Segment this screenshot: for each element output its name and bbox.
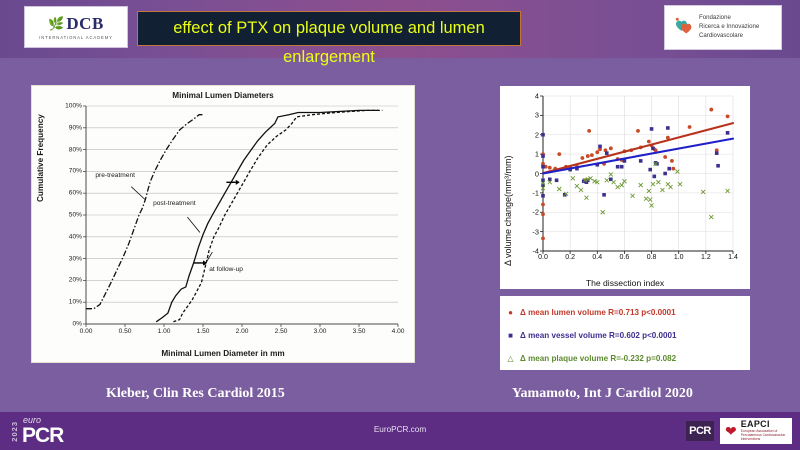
right-chart-ytick: 1	[535, 150, 539, 159]
legend-label: Δ mean vessel volume R=0.602 p<0.0001	[520, 331, 677, 340]
left-chart-annotation: pre-treatment	[95, 172, 135, 179]
left-chart-ytick: 100%	[65, 103, 82, 110]
left-chart-ytick: 40%	[69, 233, 82, 240]
legend-item: △Δ mean plaque volume R=-0.232 p=0.082	[506, 347, 746, 370]
page-title-line2: enlargement	[137, 48, 521, 67]
right-chart-ytick: -1	[532, 188, 539, 197]
left-chart-xtick: 3.00	[314, 328, 327, 335]
right-chart-card: Δ volume change(mm³/mm) The dissection i…	[500, 86, 750, 289]
left-chart-xlabel: Minimal Lumen Diameter in mm	[32, 349, 414, 358]
right-chart-caption: Yamamoto, Int J Cardiol 2020	[512, 386, 693, 402]
left-chart-xtick: 3.50	[353, 328, 366, 335]
eapci-sublabel: European Association of Percutaneous Car…	[741, 430, 792, 441]
left-chart-plot: 0%10%20%30%40%50%60%70%80%90%100%0.000.5…	[86, 106, 398, 324]
right-chart-xtick: 0.2	[565, 254, 575, 261]
left-chart-ytick: 20%	[69, 277, 82, 284]
eapci-logo[interactable]: ❤ EAPCI European Association of Percutan…	[720, 418, 792, 444]
right-chart-ylabel: Δ volume change(mm³/mm)	[503, 155, 513, 266]
left-chart-xtick: 0.00	[80, 328, 93, 335]
right-chart-xtick: 1.2	[701, 254, 711, 261]
left-chart-ytick: 80%	[69, 146, 82, 153]
pcr-badge[interactable]: PCR	[686, 421, 714, 441]
right-chart-plot: -4-3-2-1012340.00.20.40.60.81.01.21.4	[543, 96, 733, 251]
leaf-icon: 🌿	[48, 17, 64, 30]
slide-title-box: effect of PTX on plaque volume and lumen	[137, 11, 521, 46]
legend-item: ●Δ mean lumen volume R=0.713 p<0.0001	[506, 301, 746, 324]
legend-marker-icon: △	[506, 355, 515, 363]
fondazione-line1: Fondazione	[699, 14, 759, 23]
left-chart-ylabel: Cumulative Frequency	[36, 114, 45, 202]
footer-website[interactable]: EuroPCR.com	[0, 425, 800, 434]
legend-label: Δ mean lumen volume R=0.713 p<0.0001	[520, 308, 676, 317]
dcb-logo-text: DCB	[66, 15, 103, 32]
dcb-logo-subtitle: INTERNATIONAL ACADEMY	[39, 35, 113, 40]
right-chart-xtick: 1.0	[674, 254, 684, 261]
left-chart-ytick: 70%	[69, 168, 82, 175]
fondazione-line3: Cardiovascolare	[699, 32, 759, 41]
page-title: effect of PTX on plaque volume and lumen	[173, 19, 485, 38]
fondazione-line2: Ricerca e Innovazione	[699, 23, 759, 32]
left-chart-card: Minimal Lumen Diameters Cumulative Frequ…	[32, 86, 414, 362]
right-chart-xtick: 0.0	[538, 254, 548, 261]
right-chart-ytick: 4	[535, 92, 539, 101]
right-chart-legend: ●Δ mean lumen volume R=0.713 p<0.0001■Δ …	[500, 296, 750, 370]
left-chart-ytick: 50%	[69, 212, 82, 219]
left-chart-xtick: 4.00	[392, 328, 405, 335]
fondazione-logo: Fondazione Ricerca e Innovazione Cardiov…	[664, 5, 782, 50]
legend-marker-icon: ●	[506, 309, 515, 317]
left-chart-xtick: 1.00	[158, 328, 171, 335]
left-chart-ytick: 0%	[72, 321, 82, 328]
right-chart-ytick: -2	[532, 208, 539, 217]
right-chart-xtick: 0.6	[620, 254, 630, 261]
fondazione-logo-text: Fondazione Ricerca e Innovazione Cardiov…	[699, 14, 759, 40]
left-chart-annotation: at follow-up	[209, 266, 243, 273]
left-chart-xtick: 2.50	[275, 328, 288, 335]
left-chart-xtick: 1.50	[197, 328, 210, 335]
left-chart-annotation: post-treatment	[153, 200, 196, 207]
right-chart-ytick: -3	[532, 227, 539, 236]
right-chart-ytick: 2	[535, 130, 539, 139]
right-chart-xtick: 0.8	[647, 254, 657, 261]
left-chart-ytick: 10%	[69, 299, 82, 306]
left-chart-ytick: 30%	[69, 255, 82, 262]
left-chart-xtick: 2.00	[236, 328, 249, 335]
left-chart-ytick: 90%	[69, 124, 82, 131]
heart-icon: ❤	[725, 424, 737, 438]
right-chart-ytick: 3	[535, 111, 539, 120]
right-chart-xtick: 1.4	[728, 254, 738, 261]
right-chart-xtick: 0.4	[592, 254, 602, 261]
legend-label: Δ mean plaque volume R=-0.232 p=0.082	[520, 354, 676, 363]
footer-bar: 2023 euro PCR EuroPCR.com PCR ❤ EAPCI Eu…	[0, 412, 800, 450]
left-chart-xtick: 0.50	[119, 328, 132, 335]
left-chart-ytick: 60%	[69, 190, 82, 197]
hearts-icon	[669, 15, 695, 41]
legend-item: ■Δ mean vessel volume R=0.602 p<0.0001	[506, 324, 746, 347]
slide-canvas: 🌿 DCB INTERNATIONAL ACADEMY effect of PT…	[0, 0, 800, 450]
left-chart-title: Minimal Lumen Diameters	[32, 91, 414, 100]
right-chart-ytick: 0	[535, 169, 539, 178]
right-chart-xlabel: The dissection index	[500, 278, 750, 288]
left-chart-caption: Kleber, Clin Res Cardiol 2015	[106, 386, 285, 402]
legend-marker-icon: ■	[506, 332, 515, 340]
dcb-academy-logo: 🌿 DCB INTERNATIONAL ACADEMY	[24, 6, 128, 48]
